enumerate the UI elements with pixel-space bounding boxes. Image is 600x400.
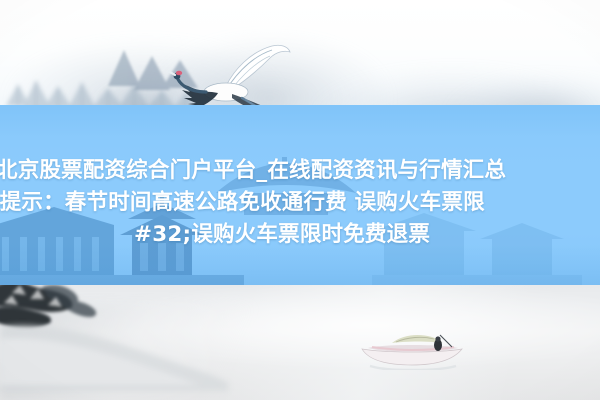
- site-title-line: 北京股票配资综合门户平台_在线配资资讯与行情汇总: [0, 158, 506, 184]
- banner-text-block: 北京股票配资综合门户平台_在线配资资讯与行情汇总 略提示：春节时间高速公路免收通…: [0, 105, 600, 285]
- blue-banner-band: 北京股票配资综合门户平台_在线配资资讯与行情汇总 略提示：春节时间高速公路免收通…: [0, 105, 600, 285]
- small-boat: [358, 325, 468, 370]
- shore-reflection: [0, 321, 230, 395]
- article-headline-tail-line: #32;误购火车票限时免费退票: [134, 222, 430, 248]
- banner-image: 北京股票配资综合门户平台_在线配资资讯与行情汇总 略提示：春节时间高速公路免收通…: [0, 0, 600, 400]
- lower-landscape: [0, 285, 600, 400]
- article-headline-line: 略提示：春节时间高速公路免收通行费 误购火车票限: [0, 190, 485, 216]
